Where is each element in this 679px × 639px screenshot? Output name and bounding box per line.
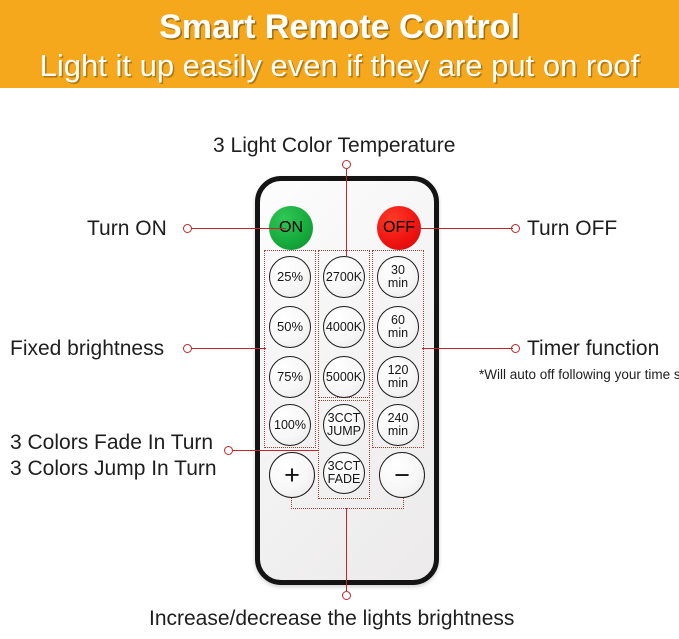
page-title: Smart Remote Control xyxy=(0,5,679,49)
callout-turn-off-label: Turn OFF xyxy=(527,216,617,242)
brightness-50-button[interactable]: 50% xyxy=(269,306,311,348)
brightness-25-label: 25% xyxy=(277,270,303,283)
timer-240min-button[interactable]: 240 min xyxy=(377,404,419,446)
timer-120min-button[interactable]: 120 min xyxy=(377,356,419,398)
timer-60min-line2: min xyxy=(388,327,408,340)
cct-4000k-button[interactable]: 4000K xyxy=(323,306,365,348)
brightness-75-label: 75% xyxy=(277,370,303,383)
timer-60min-button[interactable]: 60 min xyxy=(377,306,419,348)
callout-timer-note: *Will auto off following your time setti… xyxy=(479,362,679,388)
mode-3cct-fade-line2: FADE xyxy=(328,473,361,486)
callout-dim-label: Increase/decrease the lights brightness xyxy=(149,606,514,632)
brightness-100-button[interactable]: 100% xyxy=(269,404,311,446)
callout-turn-on-label: Turn ON xyxy=(87,216,167,242)
dim-connector-bridge xyxy=(291,508,404,509)
callout-fade-in-turn-label: 3 Colors Fade In Turn xyxy=(10,429,213,456)
callout-colors-turn-line xyxy=(232,450,318,451)
cct-5000k-label: 5000K xyxy=(326,371,362,384)
callout-timer-function-line xyxy=(422,348,513,349)
mode-3cct-jump-line2: JUMP xyxy=(327,425,361,438)
callout-color-temperature-label: 3 Light Color Temperature xyxy=(213,133,455,159)
brightness-increase-button[interactable]: + xyxy=(269,452,315,498)
brightness-decrease-label: − xyxy=(394,462,410,489)
callout-jump-in-turn-label: 3 Colors Jump In Turn xyxy=(10,455,217,482)
timer-240min-line2: min xyxy=(388,425,408,438)
mode-3cct-fade-button[interactable]: 3CCT FADE xyxy=(323,452,365,494)
brightness-50-label: 50% xyxy=(277,320,303,333)
callout-turn-on-line xyxy=(191,228,286,229)
callout-dim-line xyxy=(346,508,347,592)
cct-5000k-button[interactable]: 5000K xyxy=(323,356,365,398)
cct-2700k-button[interactable]: 2700K xyxy=(323,256,365,298)
page-subtitle: Light it up easily even if they are put … xyxy=(0,47,679,85)
brightness-25-button[interactable]: 25% xyxy=(269,256,311,298)
callout-fixed-brightness-label: Fixed brightness xyxy=(10,336,164,362)
brightness-75-button[interactable]: 75% xyxy=(269,356,311,398)
cct-2700k-label: 2700K xyxy=(326,271,362,284)
timer-30min-button[interactable]: 30 min xyxy=(377,256,419,298)
callout-turn-off-line xyxy=(408,228,513,229)
cct-4000k-label: 4000K xyxy=(326,321,362,334)
callout-fixed-brightness-line xyxy=(191,348,266,349)
brightness-decrease-button[interactable]: − xyxy=(379,452,425,498)
mode-3cct-jump-button[interactable]: 3CCT JUMP xyxy=(323,404,365,446)
brightness-increase-label: + xyxy=(284,462,300,489)
header-banner: Smart Remote Control Light it up easily … xyxy=(0,0,679,88)
callout-timer-function-label: Timer function xyxy=(527,336,659,362)
callout-color-temperature-line xyxy=(346,168,347,256)
infographic-canvas: Smart Remote Control Light it up easily … xyxy=(0,0,679,639)
timer-120min-line2: min xyxy=(388,377,408,390)
timer-30min-line2: min xyxy=(388,277,408,290)
callout-dim-dot xyxy=(342,591,351,600)
brightness-100-label: 100% xyxy=(274,419,306,432)
